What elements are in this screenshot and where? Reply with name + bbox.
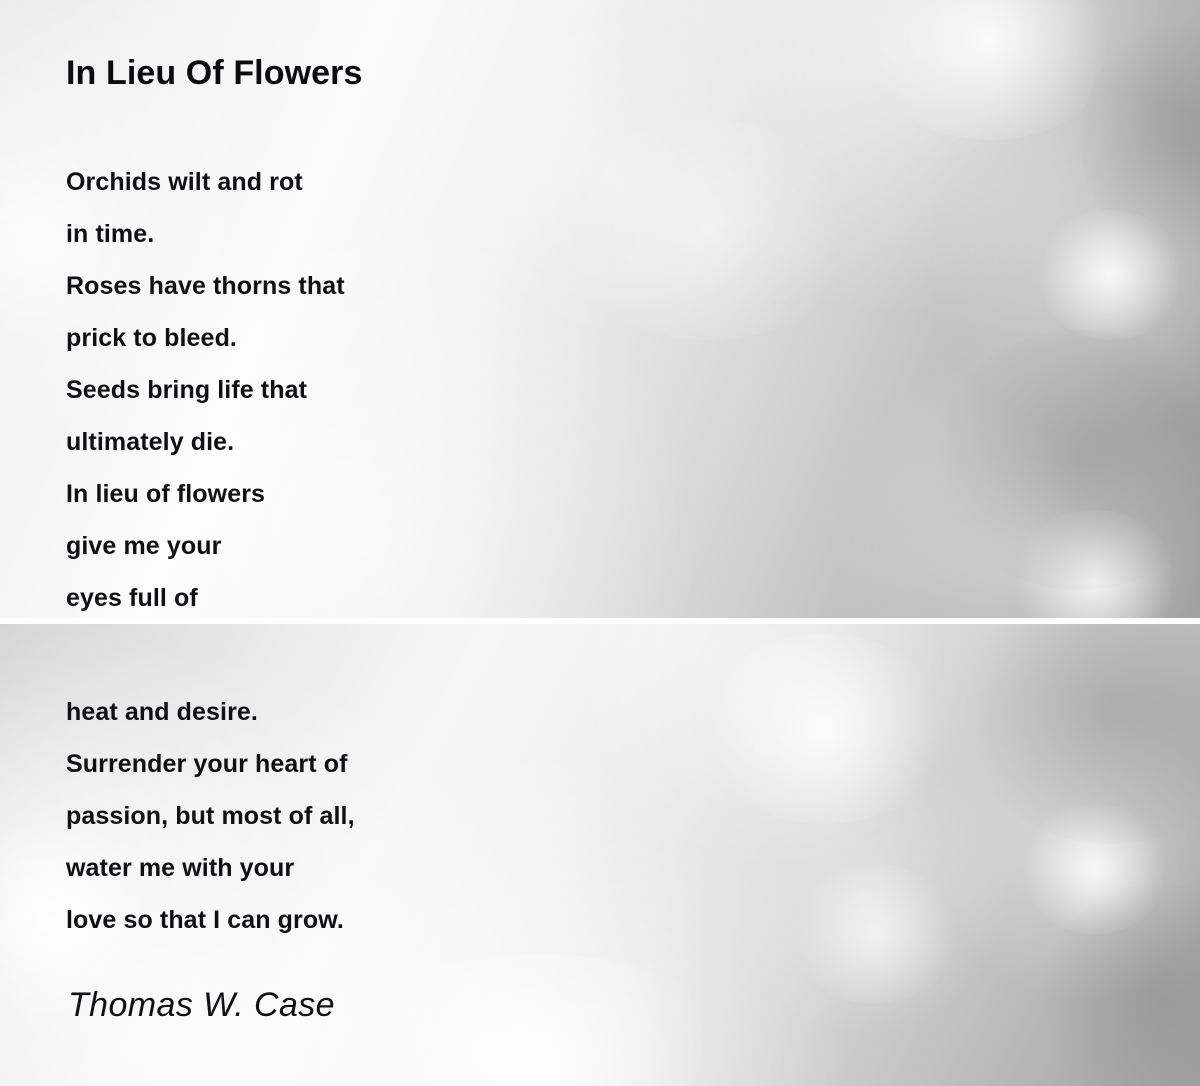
poem-line: ultimately die. [66, 416, 766, 468]
poem-line: Roses have thorns that [66, 260, 766, 312]
poem-text-layer: In Lieu Of Flowers Orchids wilt and roti… [0, 0, 1200, 1086]
poem-card: In Lieu Of Flowers Orchids wilt and roti… [0, 0, 1200, 1086]
poem-line: eyes full of [66, 572, 766, 624]
poem-line: Orchids wilt and rot [66, 156, 766, 208]
poem-line: in time. [66, 208, 766, 260]
poem-line-break [66, 624, 766, 686]
poem-line: passion, but most of all, [66, 790, 766, 842]
poem-line: In lieu of flowers [66, 468, 766, 520]
poem-line: prick to bleed. [66, 312, 766, 364]
poem-line: heat and desire. [66, 686, 766, 738]
poem-body: Orchids wilt and rotin time.Roses have t… [66, 156, 766, 946]
poem-line: water me with your [66, 842, 766, 894]
poem-author: Thomas W. Case [68, 986, 335, 1025]
poem-line: Seeds bring life that [66, 364, 766, 416]
poem-line: love so that I can grow. [66, 894, 766, 946]
poem-line: give me your [66, 520, 766, 572]
page-title: In Lieu Of Flowers [66, 54, 363, 93]
poem-line: Surrender your heart of [66, 738, 766, 790]
